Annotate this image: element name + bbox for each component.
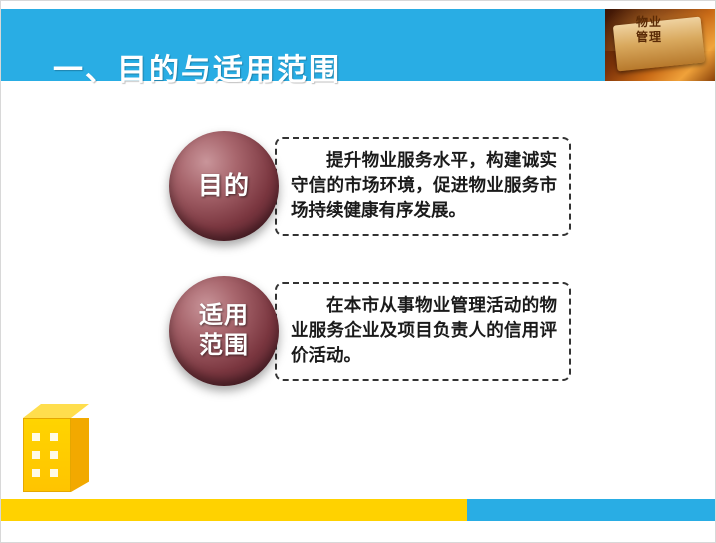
callout-text-purpose: 提升物业服务水平，构建诚实守信的市场环境，促进物业服务市场持续健康有序发展。	[291, 149, 557, 224]
slide-content: 目的 提升物业服务水平，构建诚实守信的市场环境，促进物业服务市场持续健康有序发展…	[1, 81, 716, 501]
content-row-scope: 适用 范围 在本市从事物业管理活动的物业服务企业及项目负责人的信用评价活动。	[169, 276, 571, 386]
circle-badge-scope-label-line2: 范围	[199, 331, 249, 361]
circle-badge-purpose-label: 目的	[198, 172, 250, 201]
callout-box-scope: 在本市从事物业管理活动的物业服务企业及项目负责人的信用评价活动。	[275, 282, 571, 381]
building-window	[32, 433, 40, 441]
slide: 一、目的与适用范围 物业 管理 目的 提升物业服务水平，构建诚实守信的市场环境，…	[0, 0, 716, 543]
building-side	[71, 418, 89, 492]
callout-box-purpose: 提升物业服务水平，构建诚实守信的市场环境，促进物业服务市场持续健康有序发展。	[275, 137, 571, 236]
building-window	[32, 451, 40, 459]
building-window	[32, 469, 40, 477]
circle-badge-scope-label-line1: 适用	[199, 301, 249, 331]
building-window	[50, 469, 58, 477]
footer-bar-blue	[467, 499, 716, 521]
building-front	[23, 418, 71, 492]
content-row-purpose: 目的 提升物业服务水平，构建诚实守信的市场环境，促进物业服务市场持续健康有序发展…	[169, 131, 571, 241]
header-thumbnail-image: 物业 管理	[605, 9, 715, 81]
building-icon	[23, 404, 89, 492]
callout-text-scope: 在本市从事物业管理活动的物业服务企业及项目负责人的信用评价活动。	[291, 294, 557, 369]
thumbnail-caption-line2: 管理	[605, 30, 693, 45]
circle-badge-scope: 适用 范围	[169, 276, 279, 386]
building-window	[50, 451, 58, 459]
circle-badge-scope-label: 适用 范围	[199, 301, 249, 361]
building-window	[50, 433, 58, 441]
thumbnail-caption-line1: 物业	[605, 15, 693, 30]
circle-badge-purpose: 目的	[169, 131, 279, 241]
thumbnail-caption: 物业 管理	[605, 15, 693, 45]
